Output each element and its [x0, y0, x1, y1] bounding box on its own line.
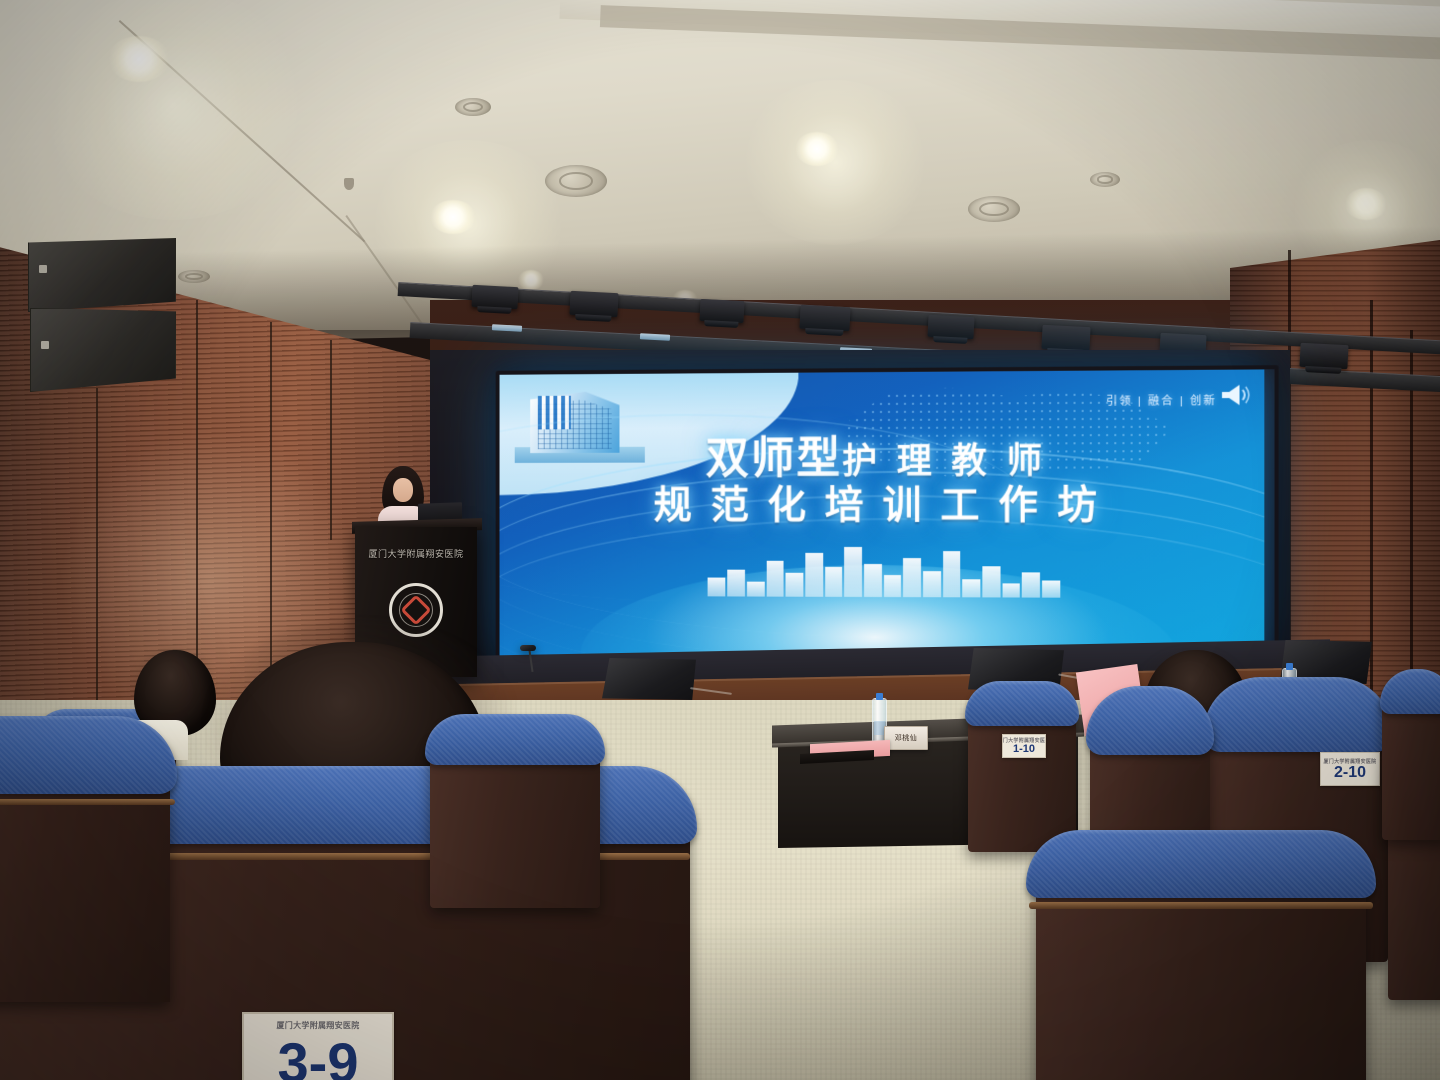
ceiling-air-vent-4	[1090, 172, 1120, 187]
downlight-3	[795, 132, 839, 166]
wall-speaker-bottom	[30, 308, 176, 392]
podium-institution-text: 厦门大学附属翔安医院	[355, 547, 477, 560]
presenter-face	[393, 478, 413, 502]
seat-number-label: 厦门大学附属翔安医院 2-10	[1320, 752, 1380, 786]
seat-headrest-cushion	[425, 714, 605, 765]
crest-mark	[400, 594, 431, 625]
seat-number: 2-10	[1334, 765, 1366, 781]
seat-headrest-cushion	[1203, 677, 1394, 752]
speaker-badge-bottom	[41, 341, 49, 349]
stage-mic-head	[520, 645, 536, 651]
stage-spotlight-4	[799, 305, 850, 332]
seat-wood-armrest-trim	[0, 799, 175, 805]
slide-slogan: 引领 | 融合 | 创新	[1106, 392, 1217, 409]
right-wall-seam-2	[1370, 300, 1373, 720]
stage-spotlight-2	[569, 291, 618, 317]
seat-right-edge[interactable]	[1382, 690, 1440, 840]
seat-midground-center[interactable]	[430, 738, 600, 908]
ceiling-sprinkler	[344, 178, 354, 190]
downlight-2	[430, 200, 476, 234]
seat-1-10[interactable]: 厦门大学附属翔安医院 1-10	[968, 702, 1076, 852]
seat-foreground-left[interactable]	[0, 742, 170, 1002]
table-nameplate: 邓桃仙	[884, 726, 928, 750]
ceiling-air-vent-2	[455, 98, 491, 116]
slide-title-sub: 护 理 教 师	[842, 442, 1047, 482]
seat-wood-armrest-trim	[1029, 902, 1372, 909]
seat-foreground-right[interactable]	[1036, 852, 1366, 1080]
auditorium-photo: 双师型护 理 教 师 规 范 化 培 训 工 作 坊 引领 | 融合 | 创新 …	[0, 0, 1440, 1080]
downlight-4	[1345, 188, 1387, 220]
slide-title-main: 双师型	[706, 434, 842, 483]
megaphone-icon	[1219, 382, 1250, 409]
seat-headrest-cushion	[1026, 830, 1376, 897]
stage-floor-monitor-1	[602, 658, 696, 700]
left-wall-seam-4	[330, 340, 332, 540]
speaker-badge-top	[39, 265, 47, 273]
stage-spotlight-1	[471, 285, 518, 309]
ceiling-air-vent-3	[968, 196, 1020, 222]
seat-number: 1-10	[1013, 744, 1035, 755]
stage-spotlight-6	[1041, 325, 1090, 351]
downlight-1	[108, 36, 170, 82]
seat-headrest-cushion	[965, 681, 1079, 726]
ceiling-air-vent-1	[545, 165, 607, 197]
stage-spotlight-8	[1299, 343, 1348, 369]
stage-spotlight-5	[927, 315, 974, 339]
seat-headrest-cushion	[0, 716, 177, 794]
stage-spotlight-3	[699, 299, 744, 323]
led-display-screen: 双师型护 理 教 师 规 范 化 培 训 工 作 坊 引领 | 融合 | 创新	[499, 369, 1264, 666]
seat-number-label: 厦门大学附属翔安医院 1-10	[1002, 734, 1046, 758]
seat-number: 3-9	[278, 1035, 359, 1080]
wall-speaker-top	[28, 238, 176, 312]
seat-label-logo-text: 厦门大学附属翔安医院	[1323, 758, 1376, 765]
slide-title-block: 双师型护 理 教 师 规 范 化 培 训 工 作 坊	[499, 435, 1264, 532]
seat-number-label: 厦门大学附属翔安医院 3-9	[242, 1012, 394, 1080]
slide-title-line-1: 双师型护 理 教 师	[499, 435, 1264, 483]
seat-label-logo-text: 厦门大学附属翔安医院	[1002, 737, 1046, 744]
seat-label-logo-text: 厦门大学附属翔安医院	[277, 1020, 360, 1031]
slide-city-skyline	[708, 547, 1060, 598]
slide-title-line-2: 规 范 化 培 训 工 作 坊	[499, 482, 1264, 532]
